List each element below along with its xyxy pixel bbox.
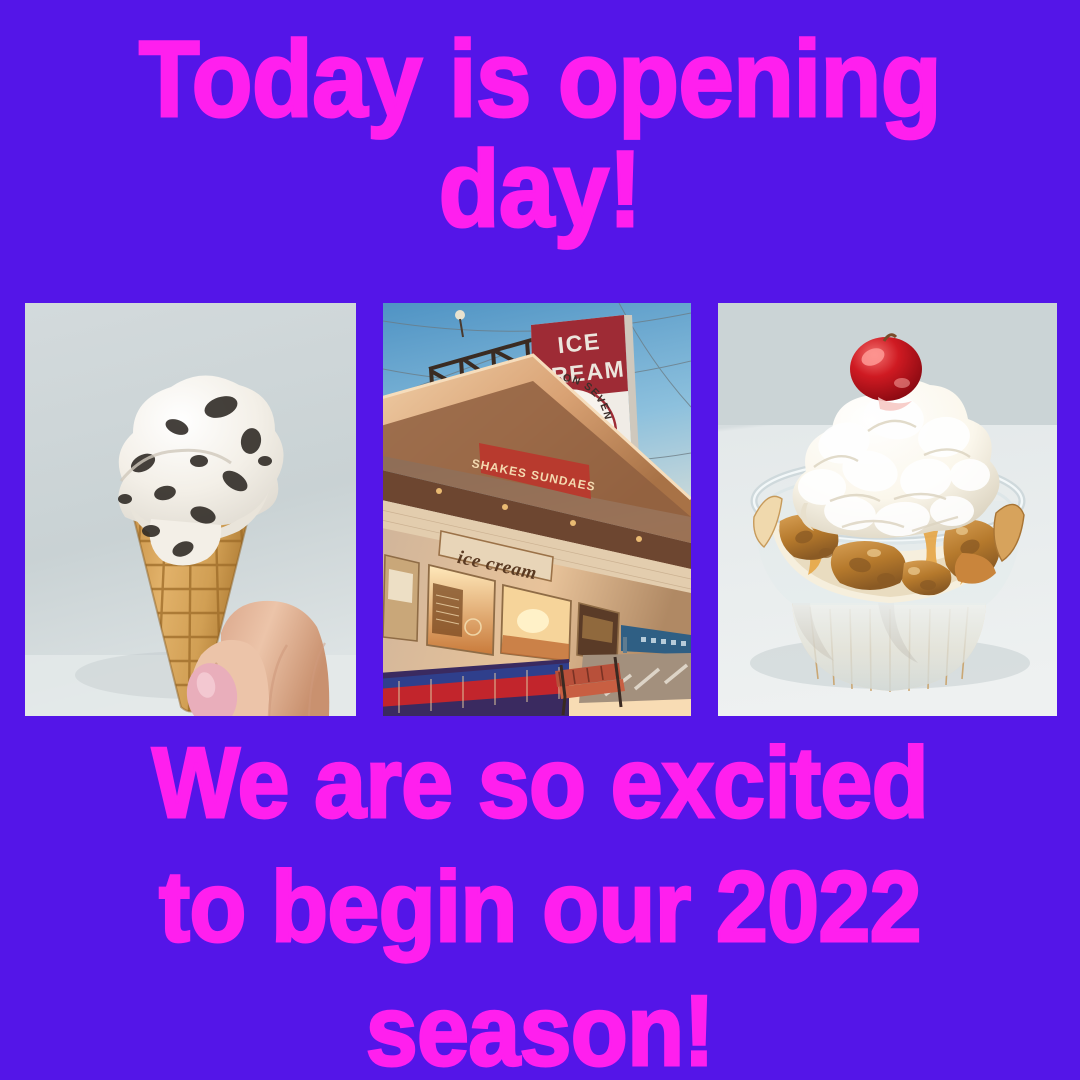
sundae-photo (718, 303, 1057, 716)
photo-strip: ICE CREAM SMOOTHIES ON SEVEN DAIRY BAR (25, 303, 1057, 716)
ice-cream-cone-photo (25, 303, 356, 716)
social-post-poster: Today is opening day! (0, 0, 1080, 1080)
subcopy-line-2: to begin our 2022 (62, 856, 1018, 958)
headline-line-2: day! (80, 134, 1000, 244)
subcopy-line-1: We are so excited (62, 732, 1018, 834)
headline-text: Today is opening day! (0, 24, 1080, 244)
subcopy-text: We are so excited to begin our 2022 seas… (0, 732, 1080, 1080)
subcopy-line-3: season! (62, 980, 1018, 1080)
headline-line-1: Today is opening (80, 24, 1000, 134)
storefront-photo: ICE CREAM SMOOTHIES ON SEVEN DAIRY BAR (383, 303, 691, 716)
sign-ice-text: ICE (556, 328, 602, 358)
